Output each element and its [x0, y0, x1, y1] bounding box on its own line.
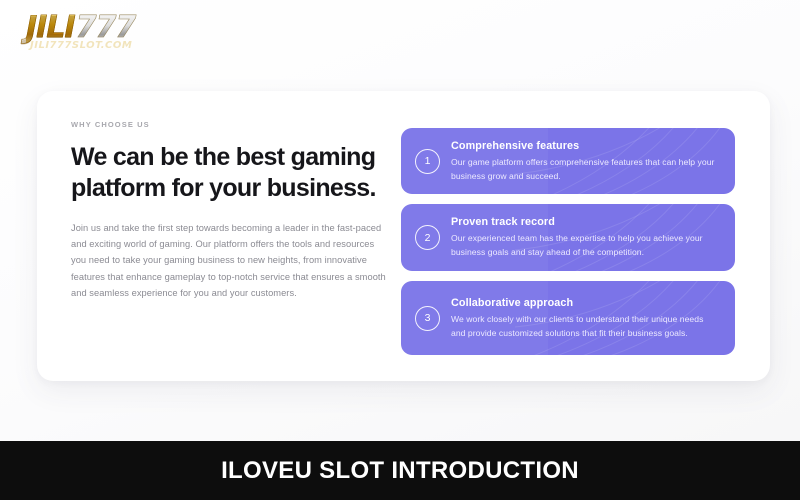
feature-card[interactable]: 3 Collaborative approach We work closely…: [401, 281, 735, 355]
brand-logo[interactable]: JILI777 JILI777SLOT.COM: [26, 12, 156, 60]
content-card-inner: WHY CHOOSE US We can be the best gaming …: [37, 91, 770, 381]
page-title: We can be the best gaming platform for y…: [71, 142, 389, 204]
feature-card[interactable]: 2 Proven track record Our experienced te…: [401, 204, 735, 271]
section-paragraph: Join us and take the first step towards …: [71, 220, 389, 301]
intro-column: WHY CHOOSE US We can be the best gaming …: [71, 120, 401, 356]
feature-title: Collaborative approach: [451, 297, 719, 309]
feature-description: Our experienced team has the expertise t…: [451, 231, 719, 259]
feature-number-badge: 2: [415, 225, 440, 250]
feature-card-list: 1 Comprehensive features Our game platfo…: [401, 120, 735, 356]
bottom-banner: ILOVEU SLOT INTRODUCTION: [0, 441, 800, 500]
feature-content: Comprehensive features Our game platform…: [451, 140, 719, 183]
content-card: WHY CHOOSE US We can be the best gaming …: [37, 91, 770, 381]
feature-description: We work closely with our clients to unde…: [451, 312, 719, 340]
section-eyebrow: WHY CHOOSE US: [71, 120, 389, 129]
logo-subtitle: JILI777SLOT.COM: [30, 40, 156, 51]
feature-title: Comprehensive features: [451, 140, 719, 152]
banner-title: ILOVEU SLOT INTRODUCTION: [221, 457, 579, 485]
feature-content: Collaborative approach We work closely w…: [451, 297, 719, 340]
feature-description: Our game platform offers comprehensive f…: [451, 155, 719, 183]
feature-card[interactable]: 1 Comprehensive features Our game platfo…: [401, 128, 735, 194]
page-root: JILI777 JILI777SLOT.COM WHY CHOOSE US We…: [0, 0, 800, 500]
feature-title: Proven track record: [451, 216, 719, 228]
feature-content: Proven track record Our experienced team…: [451, 216, 719, 259]
feature-number-badge: 1: [415, 149, 440, 174]
feature-number-badge: 3: [415, 306, 440, 331]
